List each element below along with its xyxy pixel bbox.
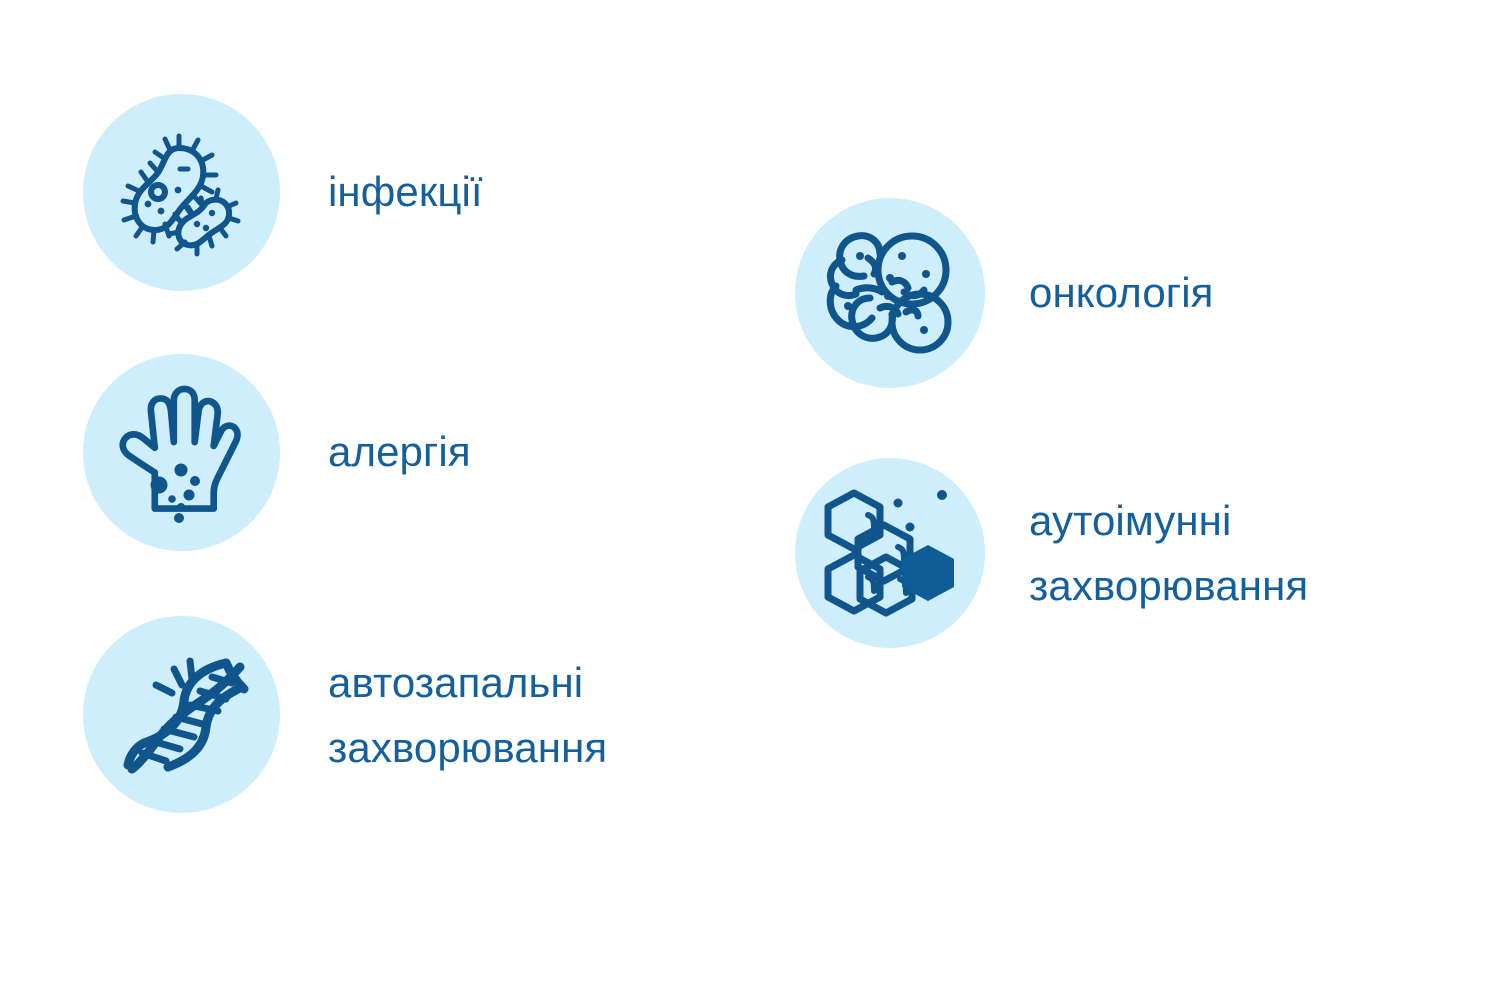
diagram-canvas: інфекції алергія — [0, 0, 1500, 991]
category-label-allergy: алергія — [328, 428, 471, 476]
icon-badge-autoimmune — [795, 458, 985, 648]
category-label-infections: інфекції — [328, 168, 483, 216]
dna-helix-icon — [114, 647, 250, 783]
category-label-oncology: онкологія — [1029, 269, 1213, 317]
icon-badge-infections — [83, 94, 280, 291]
category-item-allergy[interactable]: алергія — [83, 354, 471, 551]
category-item-autoimmune[interactable]: аутоімунні захворювання — [795, 458, 1308, 648]
icon-badge-oncology — [795, 198, 985, 388]
category-label-autoimmune: аутоімунні захворювання — [1029, 488, 1308, 618]
category-item-oncology[interactable]: онкологія — [795, 198, 1213, 388]
tumor-cells-icon — [826, 230, 954, 356]
icon-badge-allergy — [83, 354, 280, 551]
icon-badge-autoinflammatory — [83, 616, 280, 813]
hand-rash-icon — [119, 385, 245, 521]
category-item-autoinflammatory[interactable]: автозапальні захворювання — [83, 616, 607, 813]
molecule-hexagons-icon — [824, 489, 956, 617]
bacteria-icon — [117, 128, 247, 258]
category-label-autoinflammatory: автозапальні захворювання — [328, 650, 607, 780]
category-item-infections[interactable]: інфекції — [83, 94, 483, 291]
